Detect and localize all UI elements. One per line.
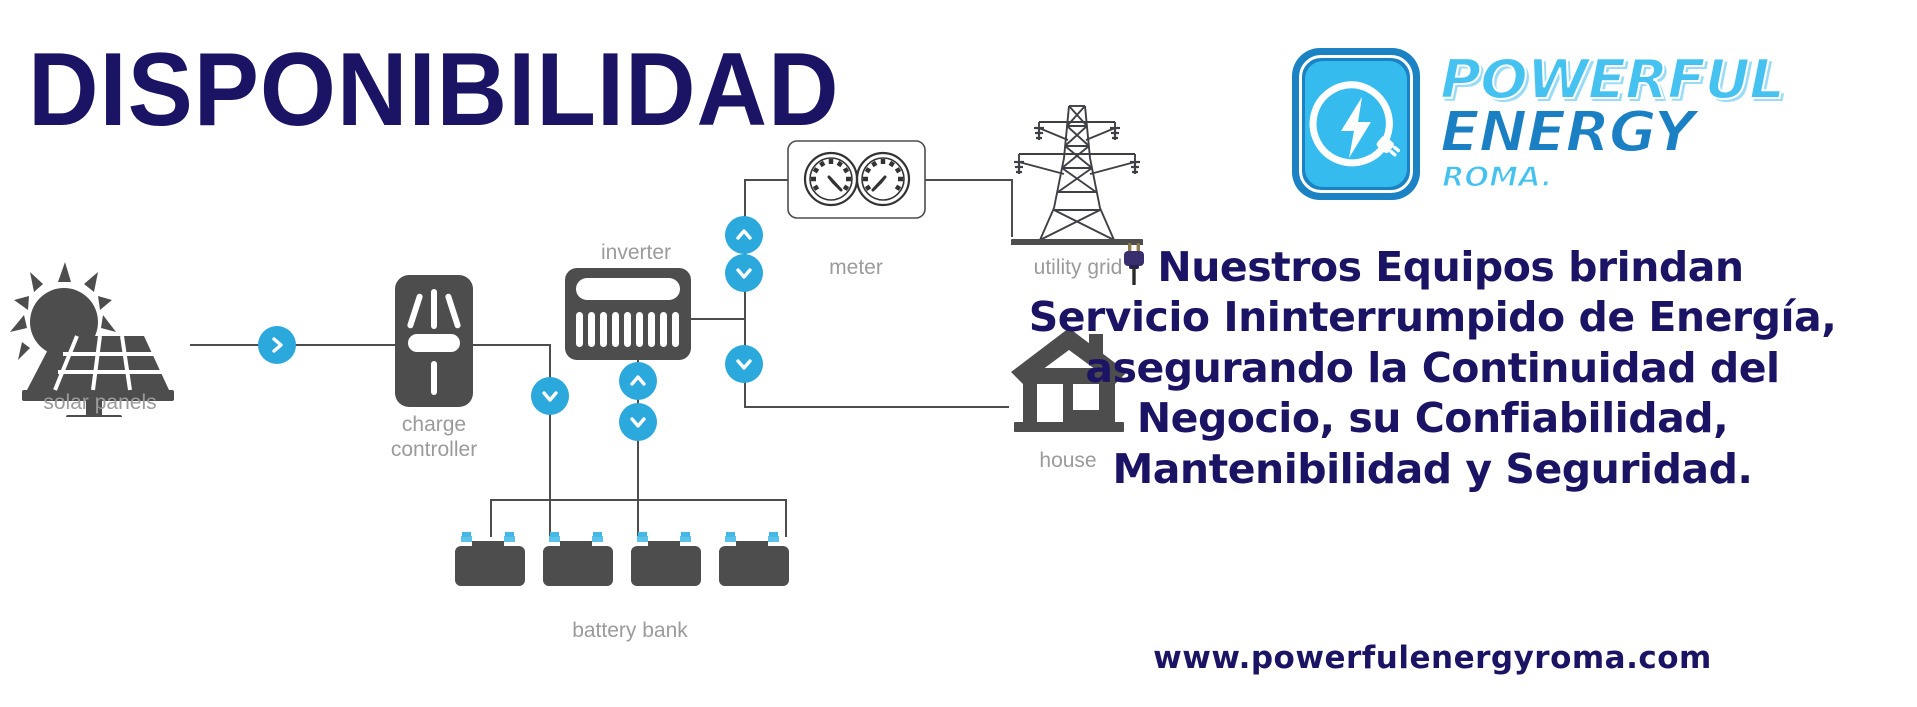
battery-icon	[455, 532, 525, 586]
promo-text: Nuestros Equipos brindan Servicio Ininte…	[960, 242, 1905, 494]
caption-charge-controller: charge controller	[354, 412, 514, 462]
transmission-tower-icon	[1007, 100, 1147, 245]
promo-line-4: Negocio, su Confiabilidad,	[960, 393, 1905, 443]
logo-text-energy: ENERGY	[1440, 100, 1695, 165]
brand-logo: POWERFUL ENERGY ROMA.	[1292, 44, 1812, 214]
promo-line-1: Nuestros Equipos brindan	[1157, 243, 1743, 291]
battery-icon	[631, 532, 701, 586]
logo-badge	[1292, 48, 1420, 200]
promo-line-2: Servicio Ininterrumpido de Energía,	[960, 292, 1905, 342]
logo-text-roma: ROMA.	[1442, 160, 1552, 193]
flow-arrow-controller-to-battery	[531, 377, 569, 415]
power-plug-circle-icon	[1305, 61, 1407, 187]
wire-controller-right	[470, 344, 550, 346]
caption-solar-panels: solar panels	[0, 390, 200, 415]
caption-inverter: inverter	[540, 240, 732, 265]
promo-line-5: Mantenibilidad y Seguridad.	[960, 444, 1905, 494]
wire-inverter-right	[690, 318, 745, 320]
battery-icon	[543, 532, 613, 586]
wire-meter-to-grid	[925, 179, 1013, 181]
flow-arrow-solar-to-controller	[258, 326, 296, 364]
poster-canvas: DISPONIBILIDAD POWERFUL ENERGY ROMA.	[0, 0, 1917, 707]
inverter-icon	[565, 268, 691, 360]
battery-icon	[719, 532, 789, 586]
flow-arrow-meter-down	[725, 254, 763, 292]
flow-arrow-inverter-down	[619, 403, 657, 441]
electric-plug-icon	[1121, 243, 1147, 285]
flow-arrow-meter-up	[725, 216, 763, 254]
flow-arrow-inverter-up	[619, 362, 657, 400]
caption-battery-bank: battery bank	[470, 618, 790, 643]
promo-line-3: asegurando la Continuidad del	[960, 343, 1905, 393]
wire-trunk-to-meter	[744, 179, 788, 181]
wire-controller-down	[549, 344, 551, 500]
dual-dial-meter-icon	[787, 140, 926, 219]
charge-controller-icon	[395, 275, 473, 407]
caption-meter: meter	[786, 255, 926, 280]
flow-arrow-house-down	[725, 345, 763, 383]
battery-bank-icon	[455, 532, 805, 594]
website-url[interactable]: www.powerfulenergyroma.com	[960, 640, 1905, 676]
